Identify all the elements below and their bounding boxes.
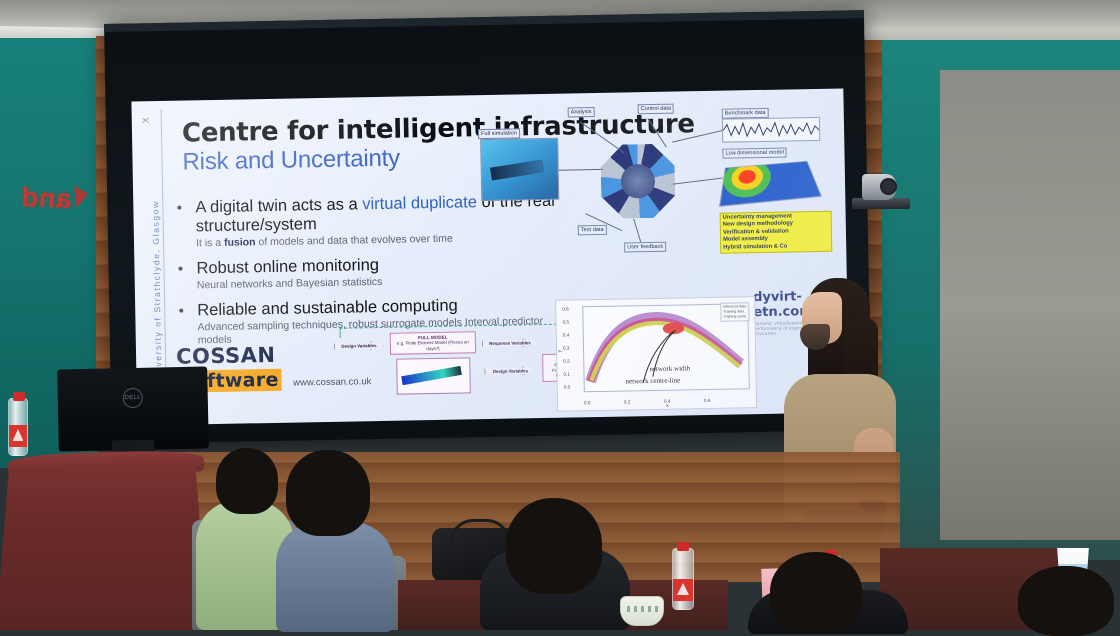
chart-annotation-centreline: network centre-line	[626, 377, 681, 386]
waveform-icon	[723, 118, 819, 142]
sub-text-bold: fusion	[224, 236, 256, 249]
led-display: X University of Strathclyde, Glasgow Cen…	[104, 10, 872, 444]
benchmark-waveform-thumbnail	[722, 117, 820, 143]
list-item: Robust online monitoring Neural networks…	[178, 252, 579, 292]
sub-text-after: of models and data that evolves over tim…	[255, 233, 452, 249]
tag-full-simulation: Full simulation	[478, 128, 520, 139]
bullet-text-highlight: virtual duplicate	[362, 193, 477, 213]
y-tick: 0.4	[563, 333, 569, 338]
tag-test-data: Test data	[578, 225, 607, 236]
leader-line	[633, 219, 642, 244]
full-simulation-thumbnail	[480, 138, 559, 201]
bottle-cap	[677, 542, 689, 551]
leader-line	[559, 169, 603, 171]
dell-logo: DELL	[123, 388, 143, 408]
audience-body	[276, 522, 394, 632]
legend-entry: Training curve	[723, 314, 746, 319]
bottle-label	[673, 579, 693, 601]
sub-text-before: It is a	[196, 237, 224, 250]
speaker-podium	[0, 455, 208, 630]
tag-low-dimensional-model: Low dimensional model	[722, 148, 787, 159]
beam-fem-thumbnail	[396, 357, 471, 394]
chart-legend: Inference data Training data Training cu…	[720, 302, 749, 322]
chart-annotation-width: network width	[649, 364, 690, 373]
capabilities-callout: Uncertainty management New design method…	[720, 211, 833, 254]
university-vertical-label: University of Strathclyde, Glasgow	[148, 104, 163, 384]
low-dimensional-model-thumbnail	[719, 161, 822, 207]
tag-control-data: Control data	[638, 104, 675, 115]
y-tick: 0.6	[562, 307, 568, 312]
y-tick: 0.1	[563, 372, 569, 377]
bullet-dot-icon	[179, 309, 183, 313]
x-tick: 0.2	[624, 399, 630, 404]
digital-twin-hub-diagram: Full simulation Analysis Control data Be…	[472, 99, 835, 256]
y-tick: 0.3	[563, 346, 569, 351]
university-strip: X University of Strathclyde, Glasgow	[136, 109, 167, 409]
chart-y-axis-label: y	[558, 350, 563, 352]
chart-x-axis-label: x	[666, 404, 668, 409]
audience-head	[286, 450, 370, 536]
arrow-design-variables: Design Variables	[334, 341, 384, 351]
bottle-label	[9, 425, 27, 447]
y-tick: 0.2	[563, 359, 569, 364]
lecture-hall-scene: and X University of Strathclyde, Glasgow…	[0, 0, 1120, 630]
arrow-response-variables: Response Variables	[482, 338, 538, 348]
x-tick: 0.0	[584, 400, 590, 405]
capability-item: Hybrid simulation & Co	[723, 242, 829, 251]
audience-head	[216, 448, 278, 514]
network-uncertainty-chart: y 0.6 0.5 0.4 0.3 0.2 0.1 0.0	[555, 296, 757, 412]
wall-grey-right	[940, 70, 1120, 540]
audience-head	[770, 552, 862, 634]
tag-analysis: Analysis	[568, 107, 595, 117]
x-tick: 0.6	[704, 398, 710, 403]
y-tick: 0.0	[564, 385, 570, 390]
slide-subtitle: Risk and Uncertainty	[182, 145, 400, 177]
audience-head	[506, 498, 602, 594]
leader-line	[647, 118, 666, 147]
bullet-dot-icon	[178, 267, 182, 271]
leader-line	[672, 130, 723, 143]
ptz-camera-icon	[852, 172, 914, 212]
y-tick: 0.5	[562, 320, 568, 325]
dell-monitor: DELL	[57, 366, 209, 451]
arrow-design-variables-2: Design Variables	[484, 366, 536, 376]
water-bottle	[8, 398, 28, 456]
bullet-dot-icon	[177, 206, 181, 210]
flow-node-detail: e.g. Finite Element Model (Pieces on day…	[392, 340, 474, 352]
leader-line	[580, 121, 625, 153]
flow-node-full-model: FULL MODEL e.g. Finite Element Model (Pi…	[390, 331, 476, 355]
tag-user-feedback: User feedback	[624, 242, 666, 253]
presenter-beard	[800, 324, 830, 350]
bullet-text-before: A digital twin acts as a	[195, 195, 362, 216]
presentation-slide: X University of Strathclyde, Glasgow Cen…	[131, 88, 849, 425]
tea-cup	[620, 596, 664, 626]
audience-head	[1018, 566, 1114, 636]
leader-line	[673, 177, 723, 184]
camera-lens	[880, 178, 897, 195]
water-bottle	[672, 548, 694, 610]
bottle-cap	[13, 392, 25, 401]
